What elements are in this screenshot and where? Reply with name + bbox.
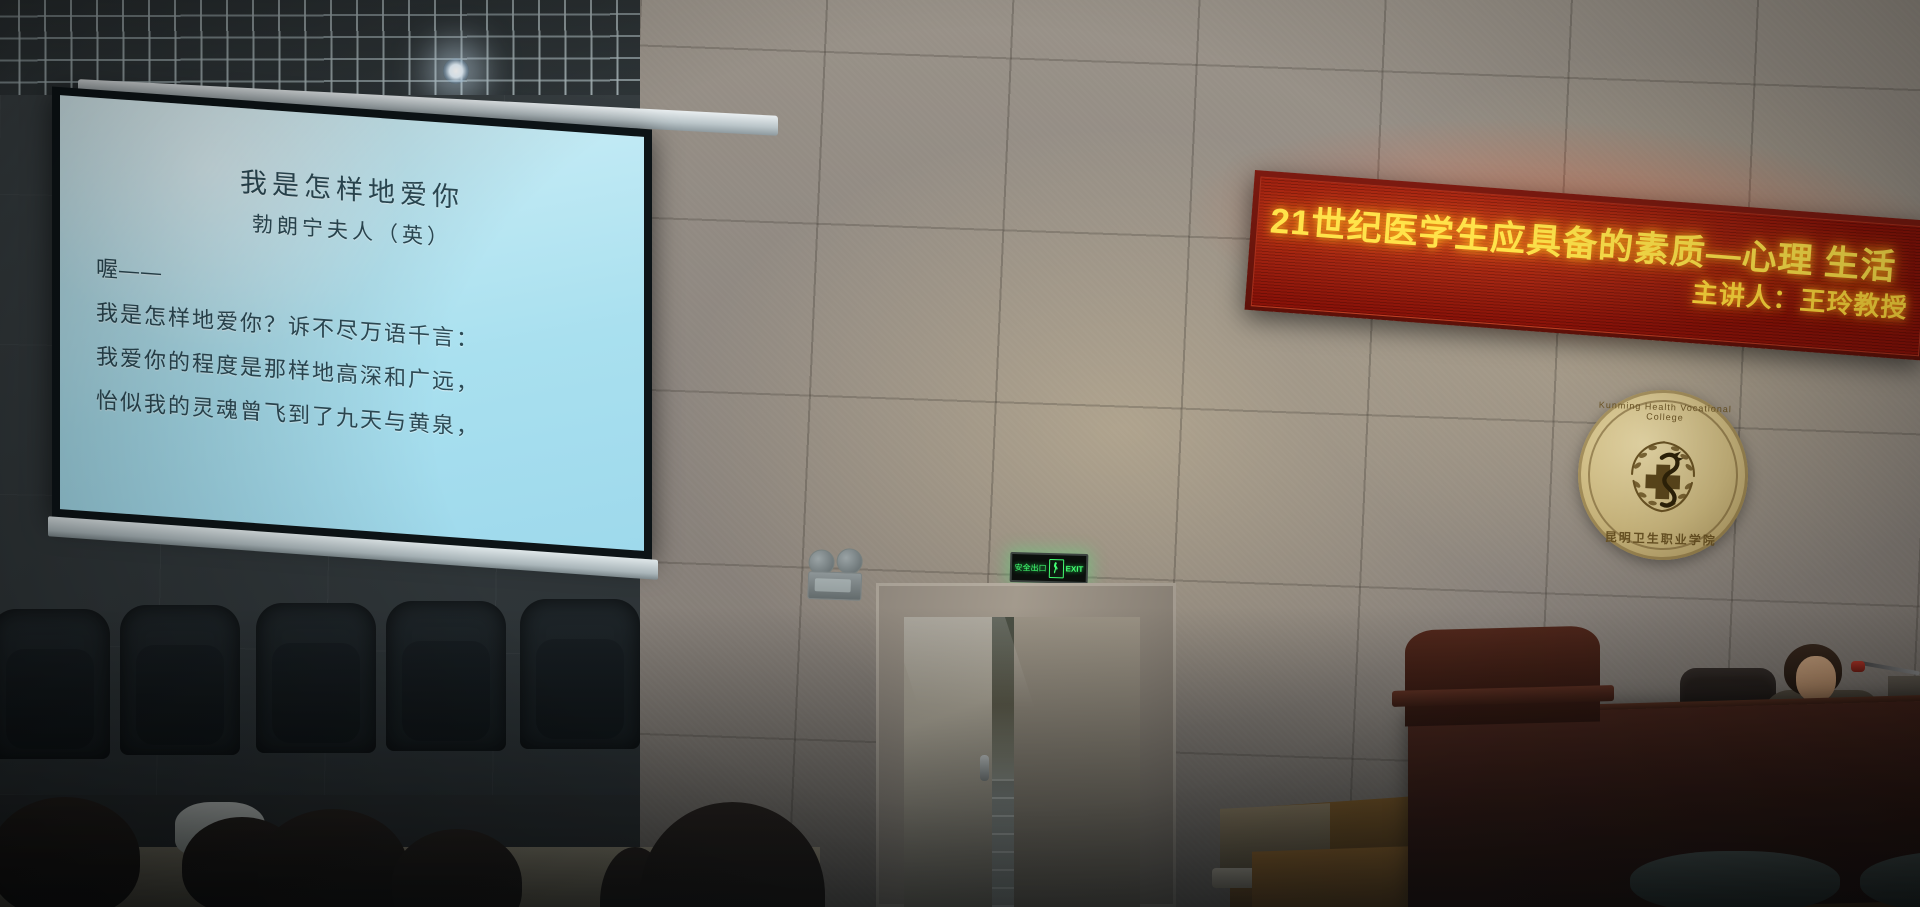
door-handle-icon[interactable] <box>980 755 989 781</box>
audience-chair-3 <box>256 603 376 753</box>
exit-sign: 安全出口 EXIT <box>1010 552 1089 584</box>
exit-door[interactable] <box>876 583 1176 907</box>
audience-chair-1 <box>0 609 110 759</box>
speaker-face <box>1796 656 1836 702</box>
slide-content: 我是怎样地爱你 勃朗宁夫人（英） 喔—— 我是怎样地爱你？诉不尽万语千言： 我爱… <box>60 95 644 551</box>
audience-head-4 <box>392 829 522 907</box>
audience-head-3 <box>258 809 408 907</box>
emblem-dragon-cross-icon <box>1619 431 1708 520</box>
ceiling-downlight-1-icon <box>443 58 469 84</box>
screen-surface: 我是怎样地爱你 勃朗宁夫人（英） 喔—— 我是怎样地爱你？诉不尽万语千言： 我爱… <box>60 95 644 551</box>
emergency-light-body <box>807 571 862 601</box>
running-man-icon <box>1048 558 1063 577</box>
audience-head-1 <box>0 797 140 907</box>
projection-screen: 我是怎样地爱你 勃朗宁夫人（英） 喔—— 我是怎样地爱你？诉不尽万语千言： 我爱… <box>52 86 652 584</box>
audience-cushion-1 <box>1630 851 1840 907</box>
microphone-icon <box>1851 661 1865 672</box>
screen-frame: 我是怎样地爱你 勃朗宁夫人（英） 喔—— 我是怎样地爱你？诉不尽万语千言： 我爱… <box>52 86 652 559</box>
emergency-light-icon <box>805 547 869 611</box>
audience-chair-4 <box>386 601 506 751</box>
lecture-hall-photo: 21世纪医学生应具备的素质—心理 生活 主讲人：王玲教授 Kunming Hea… <box>0 0 1920 907</box>
lectern <box>1405 625 1600 726</box>
door-right-panel <box>1014 617 1140 907</box>
audience-chair-2 <box>120 605 240 755</box>
door-opening <box>904 617 1140 907</box>
audience-chair-5 <box>520 599 640 749</box>
door-leaf[interactable] <box>904 617 992 907</box>
exit-sign-english: EXIT <box>1065 564 1083 573</box>
emergency-light-head-right <box>836 548 863 575</box>
college-emblem: Kunming Health Vocational College 昆明卫生职业… <box>1575 387 1751 563</box>
exit-sign-chinese: 安全出口 <box>1014 562 1046 574</box>
